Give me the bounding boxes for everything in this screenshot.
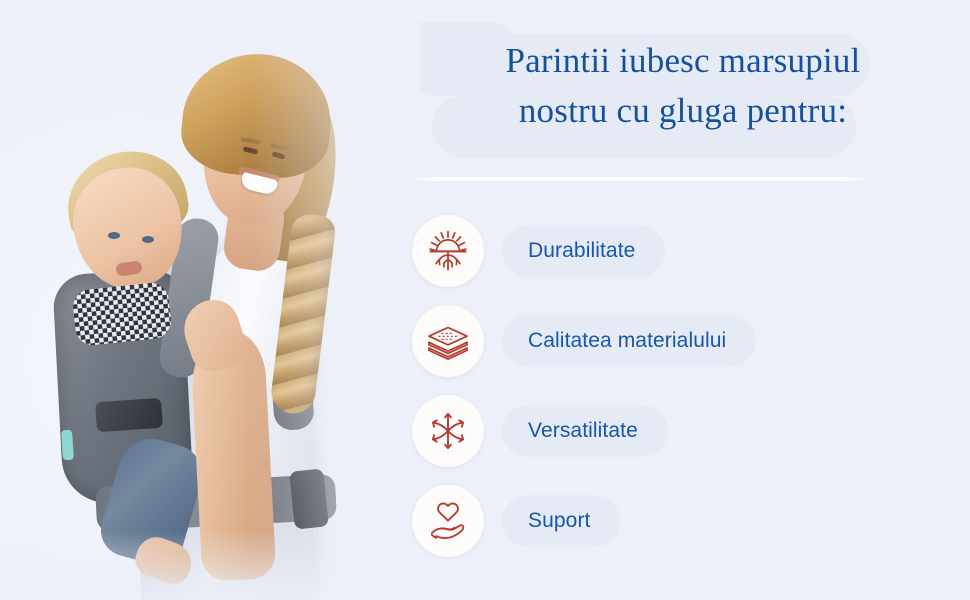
feature-label: Suport (502, 495, 620, 547)
baby-eye-right (142, 236, 154, 243)
page-title: Parintii iubesc marsupiul nostru cu glug… (396, 36, 970, 136)
baby-eye-left (108, 232, 120, 239)
baby-patterned-bib (71, 281, 172, 347)
photo-bottom-fade (0, 530, 420, 600)
multi-arrows-icon (412, 395, 484, 467)
feature-list: Durabilitate (412, 206, 970, 566)
page-title-line-1: Parintii iubesc marsupiul (396, 36, 970, 86)
feature-label: Calitatea materialului (502, 315, 756, 367)
divider (415, 177, 865, 181)
page-title-line-2: nostru cu gluga pentru: (396, 86, 970, 136)
carrier-teal-tab (61, 430, 74, 461)
carrier-buckle (95, 398, 163, 433)
hand-heart-icon (412, 485, 484, 557)
feature-item-material-quality: Calitatea materialului (412, 296, 970, 386)
sun-roots-icon (412, 215, 484, 287)
feature-label: Durabilitate (502, 225, 665, 277)
feature-label: Versatilitate (502, 405, 668, 457)
photo-right-fade (250, 0, 420, 600)
feature-item-versatility: Versatilitate (412, 386, 970, 476)
layers-icon (412, 305, 484, 377)
content-column: Parintii iubesc marsupiul nostru cu glug… (396, 0, 970, 600)
product-feature-banner: Parintii iubesc marsupiul nostru cu glug… (0, 0, 970, 600)
feature-item-support: Suport (412, 476, 970, 566)
lifestyle-photo (0, 0, 420, 600)
feature-item-durability: Durabilitate (412, 206, 970, 296)
